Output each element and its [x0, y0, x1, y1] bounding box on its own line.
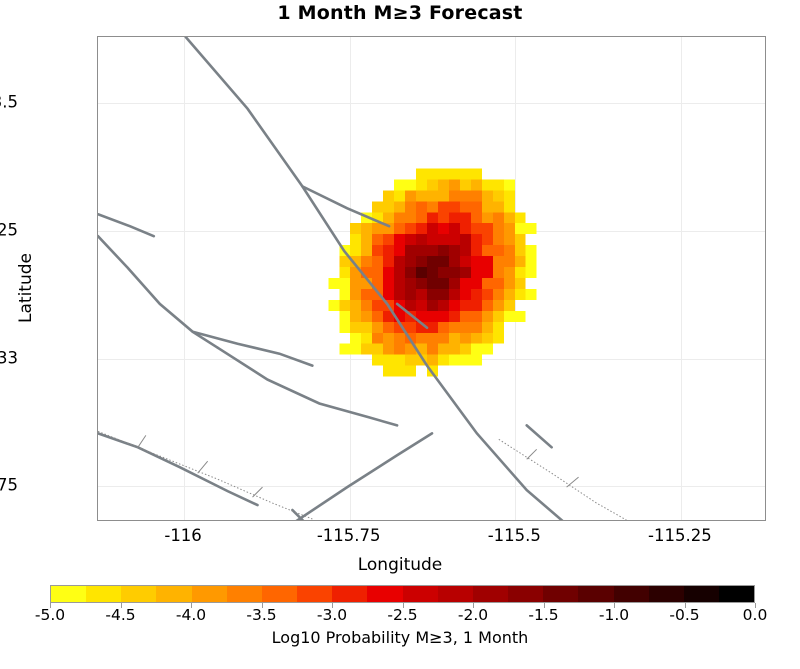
fault-overlay	[98, 37, 765, 520]
x-tick-label-2: -115.5	[444, 526, 584, 545]
forecast-heatmap-plot[interactable]	[97, 36, 766, 521]
colorbar-tickmark-6	[473, 603, 474, 608]
colorbar-swatch-12	[473, 586, 508, 602]
san-andreas-fault-trace	[186, 37, 577, 520]
colorbar-swatch-6	[262, 586, 297, 602]
colorbar-swatch-15	[578, 586, 613, 602]
border-tick-a	[138, 435, 146, 447]
y-tick-label-2: 33	[0, 348, 18, 367]
colorbar-swatch-11	[438, 586, 473, 602]
x-axis-label: Longitude	[0, 555, 800, 575]
fault-trace-west-upper	[98, 214, 154, 236]
colorbar-tickmark-4	[332, 603, 333, 608]
fault-trace-se-stub	[527, 425, 552, 447]
colorbar-swatch-4	[192, 586, 227, 602]
colorbar-swatch-9	[367, 586, 402, 602]
colorbar-swatch-17	[649, 586, 684, 602]
colorbar-swatch-19	[719, 586, 754, 602]
colorbar-tickmark-1	[121, 603, 122, 608]
colorbar-caption: Log10 Probability M≥3, 1 Month	[0, 628, 800, 647]
fault-trace-west-mid	[98, 236, 218, 348]
colorbar-tickmark-9	[685, 603, 686, 608]
colorbar-tickmark-5	[403, 603, 404, 608]
colorbar-swatch-1	[86, 586, 121, 602]
colorbar-swatch-7	[297, 586, 332, 602]
colorbar-swatch-13	[508, 586, 543, 602]
fault-trace-west-lower	[193, 332, 313, 366]
x-tick-label-1: -115.75	[279, 526, 419, 545]
colorbar-tickmark-8	[614, 603, 615, 608]
page-title: 1 Month M≥3 Forecast	[0, 2, 800, 24]
colorbar-swatch-0	[51, 586, 86, 602]
border-tick-b	[198, 461, 208, 473]
colorbar-swatch-10	[403, 586, 438, 602]
y-axis-label: Latitude	[16, 218, 36, 358]
colorbar-swatch-18	[684, 586, 719, 602]
colorbar-swatch-2	[121, 586, 156, 602]
y-tick-label-1: 33.25	[0, 221, 18, 240]
superstition-hills-fault	[278, 433, 432, 520]
colorbar-swatch-16	[614, 586, 649, 602]
fault-trace-sw-short	[98, 433, 258, 505]
colorbar[interactable]	[50, 585, 755, 603]
colorbar-swatch-14	[543, 586, 578, 602]
x-tick-label-3: -115.25	[610, 526, 750, 545]
border-tick-d	[527, 449, 537, 459]
border-tick-e	[567, 477, 579, 487]
colorbar-tickmark-2	[191, 603, 192, 608]
colorbar-swatch-8	[332, 586, 367, 602]
y-tick-label-3: 32.75	[0, 476, 18, 495]
colorbar-swatch-3	[156, 586, 191, 602]
border-tick-c	[253, 487, 263, 497]
colorbar-tick-label-10: 0.0	[710, 606, 800, 624]
fault-trace-west-south	[218, 348, 397, 426]
y-tick-label-0: 33.5	[0, 93, 18, 112]
colorbar-tickmark-10	[755, 603, 756, 608]
colorbar-tickmark-7	[544, 603, 545, 608]
colorbar-tickmark-0	[50, 603, 51, 608]
colorbar-swatch-5	[227, 586, 262, 602]
colorbar-tickmark-3	[262, 603, 263, 608]
x-tick-label-0: -116	[113, 526, 253, 545]
